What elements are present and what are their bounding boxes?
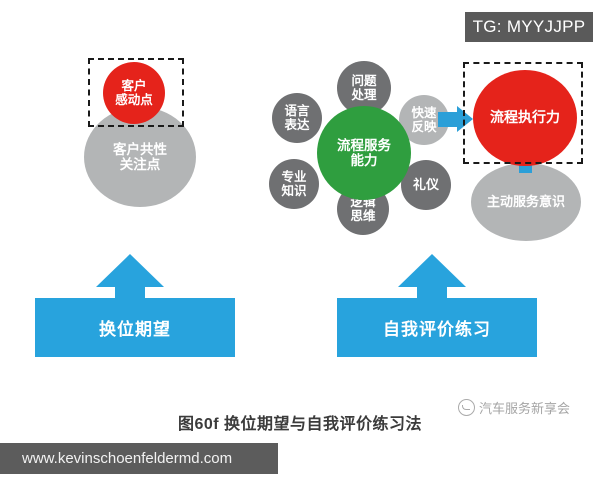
- arrow-to-execution-stem: [438, 112, 458, 127]
- left-cta-arrow-head: [96, 254, 164, 287]
- watermark-text: 汽车服务新享会: [479, 398, 570, 417]
- right-cta-label: 自我评价练习: [383, 315, 491, 340]
- tg-badge: TG: MYYJJPP: [465, 12, 593, 42]
- right-base-node: 主动服务意识: [471, 163, 581, 241]
- left-cta-label: 换位期望: [99, 315, 171, 340]
- left-highlight-frame: [88, 58, 184, 127]
- left-base-node-label: 客户共性 关注点: [113, 142, 167, 172]
- circle-logo-icon: [458, 399, 475, 416]
- center-node-label: 流程服务 能力: [337, 138, 391, 168]
- satellite-node-upper-right-label: 快速 反映: [411, 106, 436, 134]
- watermark: 汽车服务新享会: [458, 398, 570, 417]
- diagram-canvas: TG: MYYJJPP 客户共性 关注点 客户 感动点 换位期望 问题 处理 语…: [0, 0, 600, 480]
- satellite-node-top-label: 问题 处理: [351, 74, 376, 102]
- satellite-node-lower-left: 专业 知识: [269, 159, 319, 209]
- satellite-node-upper-left: 语言 表达: [272, 93, 322, 143]
- satellite-node-lower-left-label: 专业 知识: [281, 170, 306, 198]
- satellite-node-lower-right-label: 礼仪: [413, 178, 439, 193]
- center-node: 流程服务 能力: [317, 106, 411, 200]
- right-base-node-label: 主动服务意识: [487, 195, 565, 210]
- url-bar: www.kevinschoenfeldermd.com: [0, 443, 278, 474]
- left-cta-box[interactable]: 换位期望: [35, 298, 235, 357]
- right-highlight-frame: [463, 62, 583, 164]
- right-cta-box[interactable]: 自我评价练习: [337, 298, 537, 357]
- satellite-node-upper-left-label: 语言 表达: [284, 104, 309, 132]
- right-cta-arrow-head: [398, 254, 466, 287]
